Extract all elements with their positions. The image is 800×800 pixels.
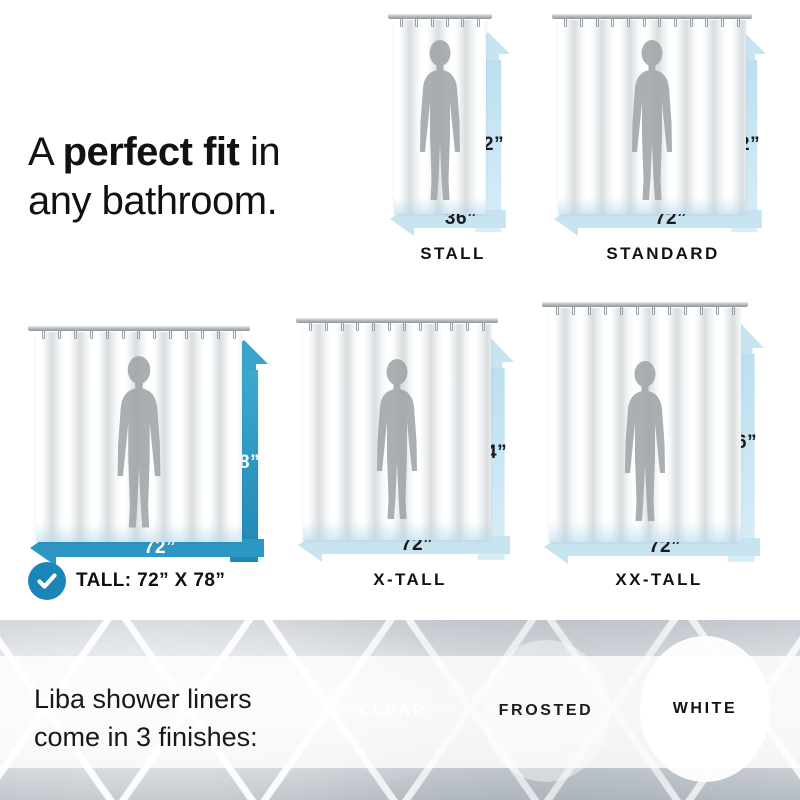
curtain-hooks-xtall: [303, 323, 491, 332]
finish-swatch-frosted[interactable]: FROSTED: [482, 640, 610, 782]
person-silhouette-xtall: [369, 356, 425, 528]
curtain-hooks-stall: [394, 19, 486, 28]
person-silhouette-tall: [109, 356, 169, 534]
check-icon: [28, 562, 66, 600]
checkmark-glyph: [36, 570, 58, 592]
finish-label-white: WHITE: [673, 700, 738, 718]
person-silhouette-stall: [412, 40, 468, 206]
person-silhouette-standard: [624, 40, 680, 206]
size-panel-tall: 78” 72”: [28, 326, 278, 598]
size-panel-stall: 72” 36” STALL: [388, 14, 518, 274]
headline-line1-emphasis: perfect fit: [63, 130, 240, 174]
finish-swatch-white[interactable]: WHITE: [640, 636, 770, 782]
headline-line-2: any bathroom.: [28, 177, 378, 226]
curtain-hooks-xxtall: [549, 307, 741, 316]
finish-swatch-clear[interactable]: CLEAR: [334, 642, 452, 780]
page-headline: A perfect fit in any bathroom.: [28, 128, 378, 226]
panel-label-xxtall: XX-TALL: [542, 570, 776, 590]
size-panel-xxtall: 96” 72” XX-TALL: [542, 302, 776, 598]
headline-line1-part-a: A: [28, 130, 63, 174]
finish-label-frosted: FROSTED: [499, 702, 594, 720]
headline-line1-part-c: in: [239, 130, 280, 174]
finishes-banner: Liba shower liners come in 3 finishes: C…: [0, 620, 800, 800]
panel-label-xtall: X-TALL: [296, 570, 524, 590]
selected-size-badge[interactable]: TALL: 72” X 78”: [28, 562, 225, 600]
finishes-heading-line-2: come in 3 finishes:: [34, 718, 258, 756]
selected-size-label: TALL: 72” X 78”: [76, 570, 225, 592]
size-panel-standard: 72” 72” STANDARD: [552, 14, 774, 274]
size-panel-xtall: 84” 72” X-TALL: [296, 318, 524, 598]
headline-line-1: A perfect fit in: [28, 128, 378, 177]
curtain-hooks-standard: [558, 19, 746, 28]
panel-label-stall: STALL: [388, 244, 518, 264]
finish-label-clear: CLEAR: [359, 702, 427, 720]
finishes-heading: Liba shower liners come in 3 finishes:: [34, 680, 258, 757]
panel-label-standard: STANDARD: [552, 244, 774, 264]
curtain-hooks-tall: [36, 331, 242, 340]
person-silhouette-xxtall: [617, 358, 673, 530]
finishes-heading-line-1: Liba shower liners: [34, 680, 258, 718]
